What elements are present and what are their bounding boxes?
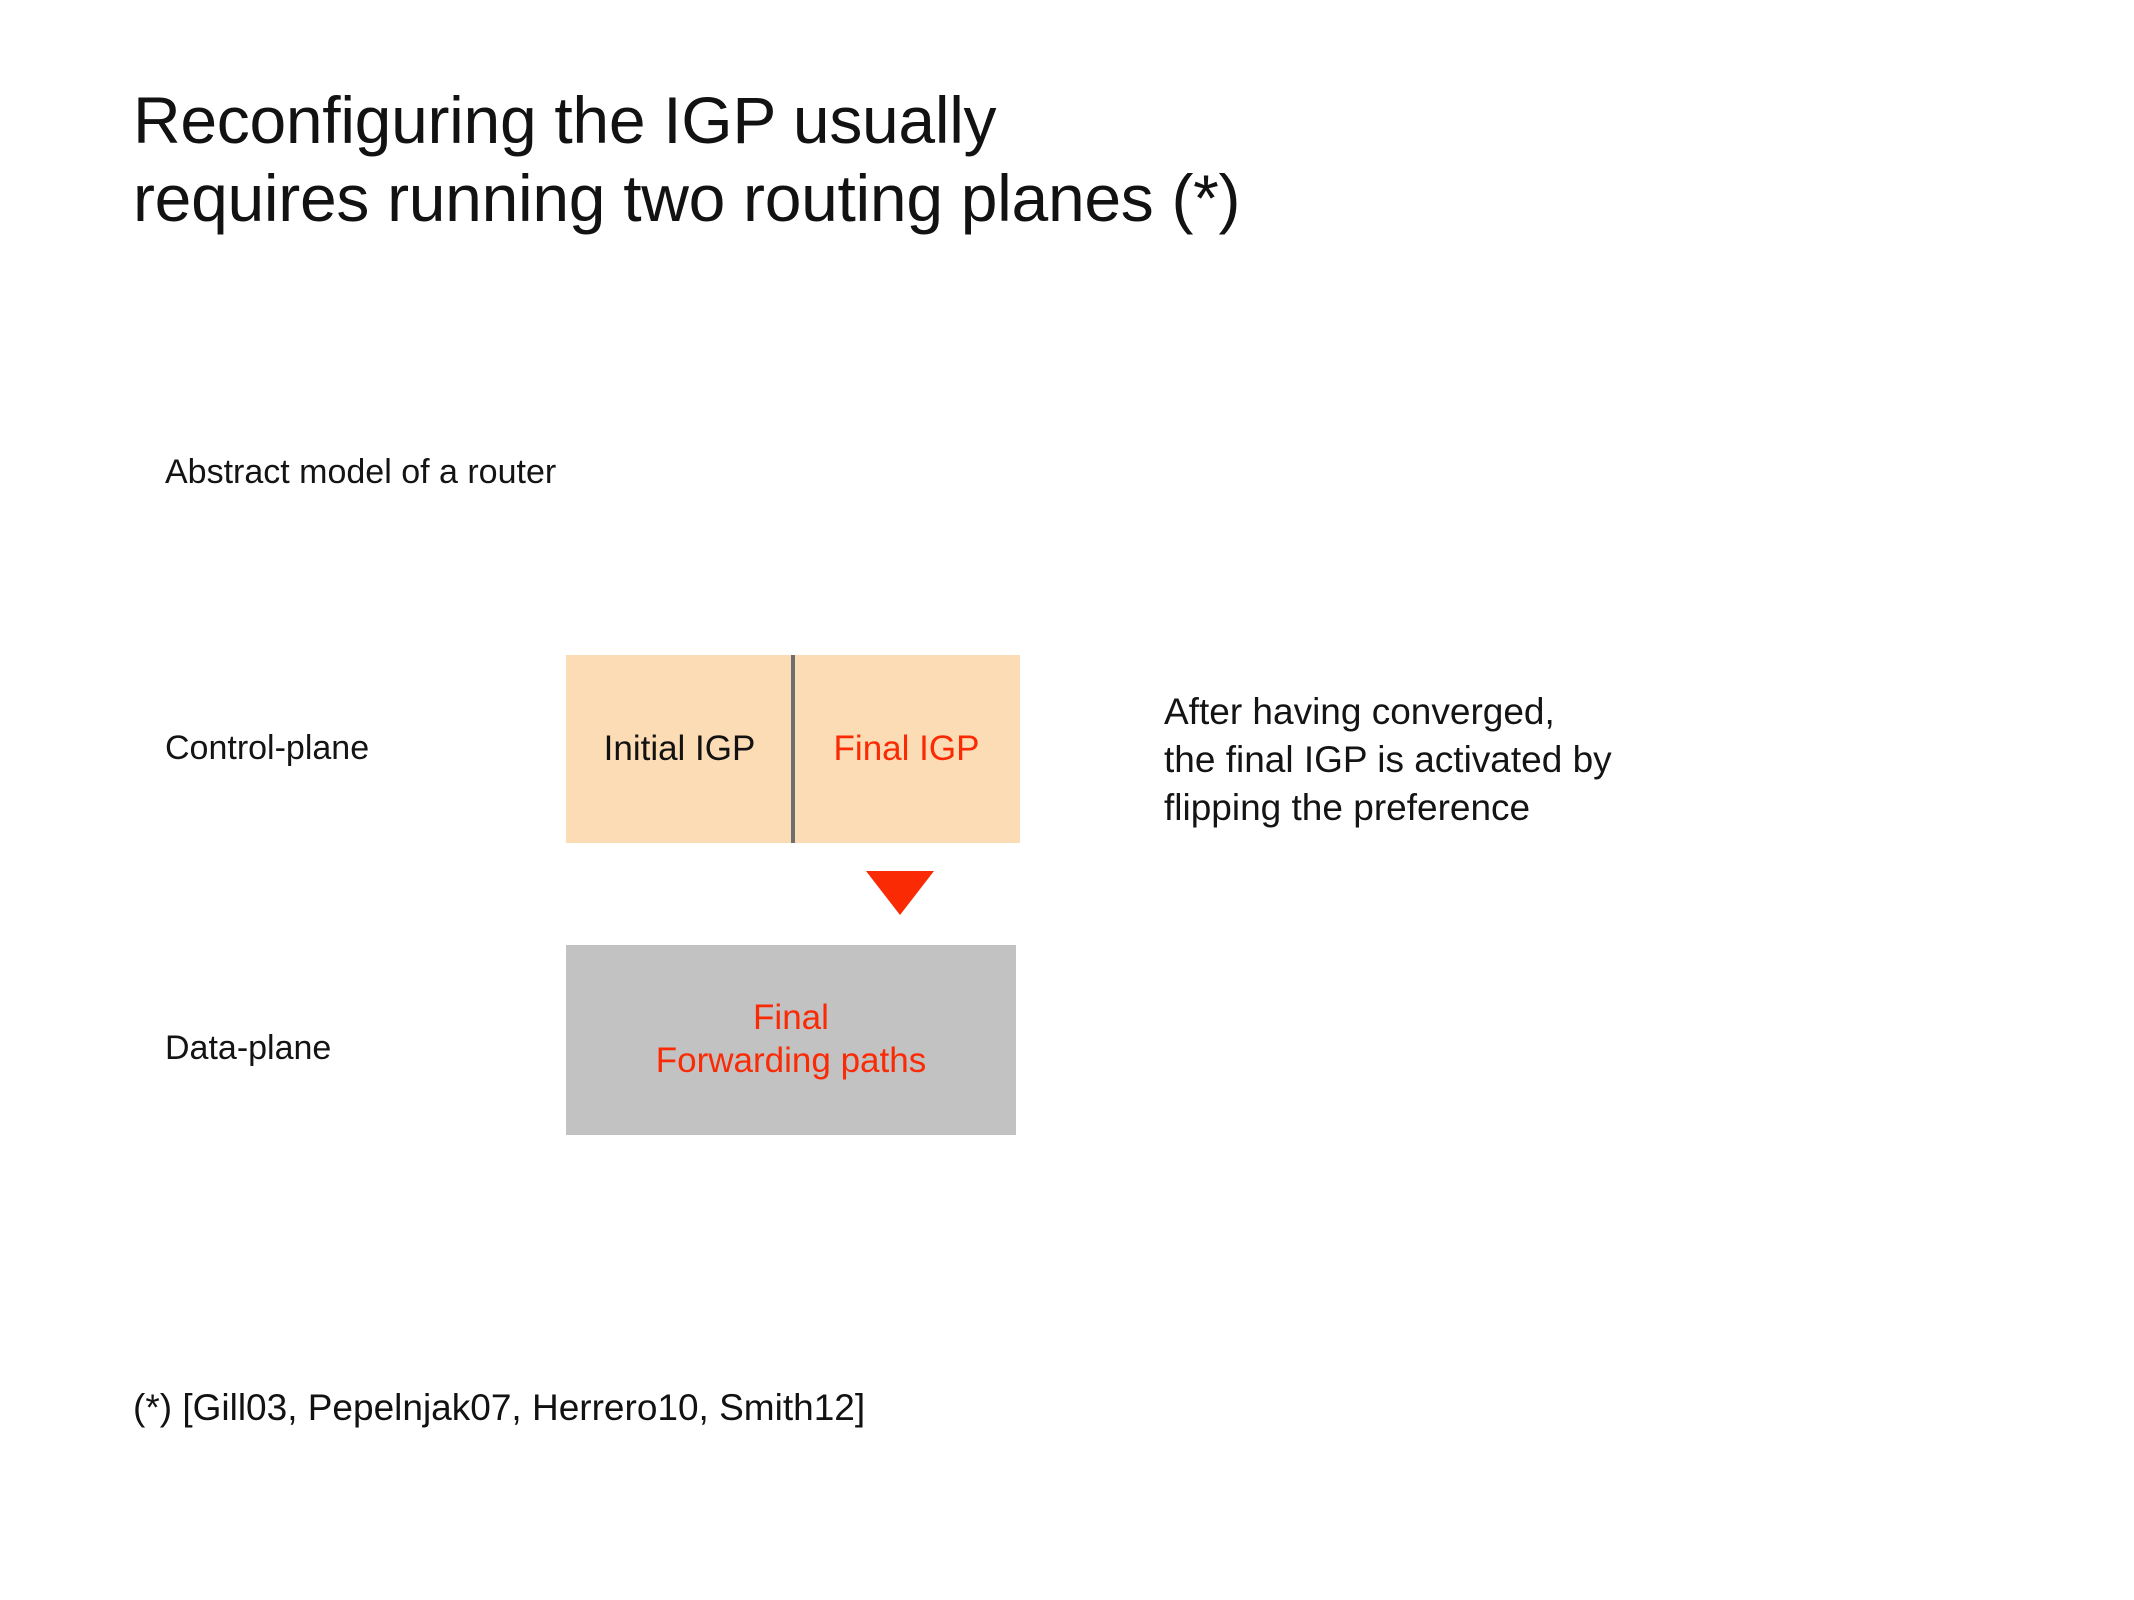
control-plane-cell-initial-igp: Initial IGP: [566, 655, 793, 843]
row-label-control-plane: Control-plane: [165, 728, 369, 769]
page-title: Reconfiguring the IGP usually requires r…: [133, 82, 1833, 238]
down-triangle-icon: [866, 871, 934, 915]
data-plane-label: Final Forwarding paths: [656, 997, 926, 1082]
control-plane-divider: [791, 655, 795, 843]
control-plane-cell-final-igp: Final IGP: [793, 655, 1020, 843]
annotation-note: After having converged, the final IGP is…: [1164, 688, 1804, 832]
control-plane-box: Initial IGP Final IGP: [566, 655, 1020, 843]
footnote-citation: (*) [Gill03, Pepelnjak07, Herrero10, Smi…: [133, 1386, 865, 1430]
diagram-caption: Abstract model of a router: [165, 452, 556, 493]
data-plane-box: Final Forwarding paths: [566, 945, 1016, 1135]
row-label-data-plane: Data-plane: [165, 1028, 331, 1069]
